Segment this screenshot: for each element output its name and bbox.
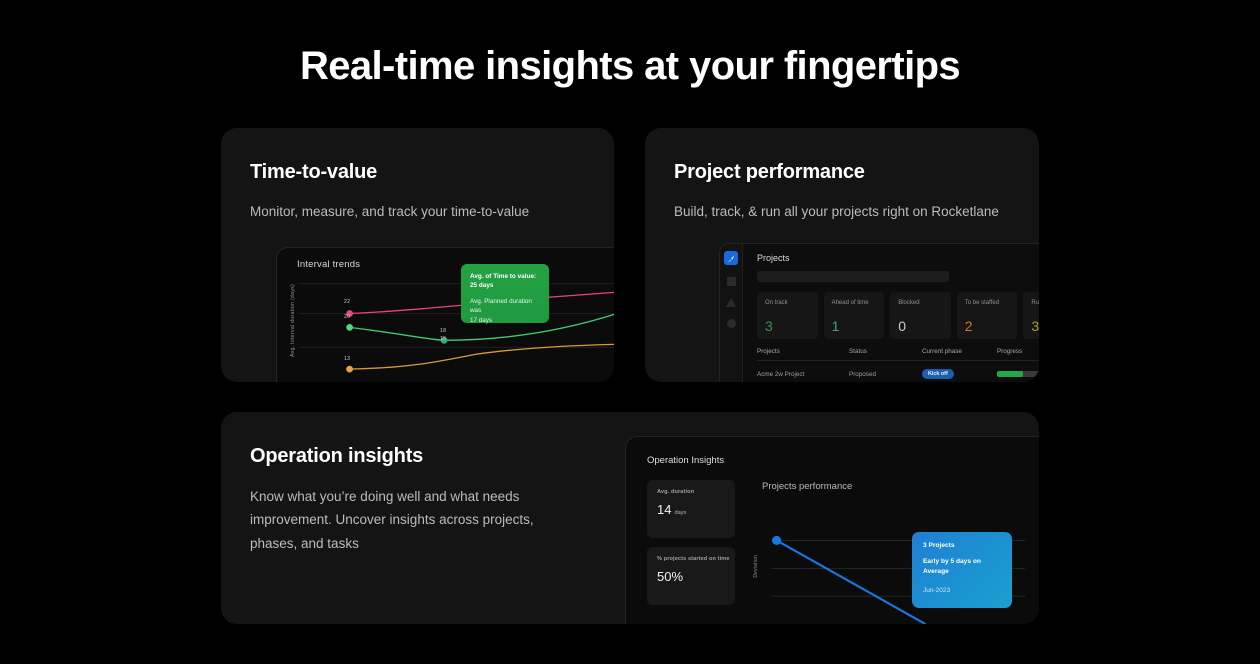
cell-status: Proposed: [849, 371, 922, 378]
point-label: 13: [344, 356, 350, 362]
annotation-line-2: Early by 5 days on Average: [923, 557, 1002, 577]
rocketlane-logo-icon[interactable]: [724, 251, 738, 265]
app-title: Projects: [757, 253, 1039, 263]
projects-table: Projects Status Current phase Progress A…: [757, 348, 1039, 379]
annotation-line-1: 3 Projects: [923, 542, 1002, 549]
kpi-card-to-be-staffed[interactable]: To be staffed 2: [957, 292, 1018, 339]
card-title: Project performance: [674, 161, 865, 184]
point-label: 20: [344, 314, 350, 320]
card-description: Monitor, measure, and track your time-to…: [250, 200, 529, 223]
landing-page: Real-time insights at your fingertips Ti…: [0, 0, 1260, 664]
kpi-value: 3: [765, 318, 818, 334]
kpi-label: On track: [765, 299, 818, 308]
table-header: Projects Status Current phase Progress: [757, 348, 1039, 361]
column-header-progress[interactable]: Progress: [997, 348, 1039, 355]
kpi-label: Running late: [1031, 299, 1039, 308]
app-body: Projects On track 3 Ahead of time 1 Bloc…: [743, 244, 1039, 382]
tooltip-line-1: Avg. of Time to value:: [470, 272, 540, 281]
chart-annotation-tooltip: 3 Projects Early by 5 days on Average Ju…: [912, 532, 1012, 608]
card-description: Know what you’re doing well and what nee…: [250, 485, 560, 555]
card-title: Operation insights: [250, 445, 423, 468]
page-title: Real-time insights at your fingertips: [0, 44, 1260, 89]
cell-project-name: Acme 2w Project: [757, 371, 849, 378]
point-label: 22: [344, 299, 350, 305]
kpi-card-running-late[interactable]: Running late 3: [1023, 292, 1039, 339]
triangle-icon[interactable]: [726, 298, 736, 307]
circle-icon[interactable]: [727, 319, 736, 328]
column-header-current-phase[interactable]: Current phase: [922, 348, 997, 355]
app-sidebar-rail: [720, 244, 743, 382]
tooltip-line-2: 25 days: [470, 281, 540, 290]
point-label: 15: [440, 336, 446, 342]
tooltip-line-3: Avg. Planned duration was: [470, 297, 540, 315]
point-label: 18: [440, 328, 446, 334]
interval-trends-chart: [277, 248, 614, 382]
tooltip-line-4: 17 days: [470, 316, 540, 325]
kpi-card-on-track[interactable]: On track 3: [757, 292, 818, 339]
search-input[interactable]: [757, 271, 949, 282]
kpi-card-blocked[interactable]: Blocked 0: [890, 292, 951, 339]
kpi-value: 2: [965, 318, 1018, 334]
kpi-value: 1: [832, 318, 885, 334]
card-project-performance: Project performance Build, track, & run …: [645, 128, 1039, 382]
project-performance-mock: Projects On track 3 Ahead of time 1 Bloc…: [719, 243, 1039, 382]
column-header-status[interactable]: Status: [849, 348, 922, 355]
cell-progress: [997, 371, 1039, 377]
table-row[interactable]: Acme 2w Project Proposed Kick off: [757, 361, 1039, 379]
card-operation-insights: Operation insights Know what you’re doin…: [221, 412, 1039, 624]
kpi-value: 3: [1031, 318, 1039, 334]
kpi-card-ahead-of-time[interactable]: Ahead of time 1: [824, 292, 885, 339]
cell-current-phase: Kick off: [922, 369, 997, 379]
column-header-projects[interactable]: Projects: [757, 348, 849, 355]
card-title: Time-to-value: [250, 161, 377, 184]
kpi-row: On track 3 Ahead of time 1 Blocked 0 To …: [757, 292, 1039, 339]
kpi-label: Blocked: [898, 299, 951, 308]
progress-bar: [997, 371, 1039, 377]
card-description: Build, track, & run all your projects ri…: [674, 200, 999, 223]
card-time-to-value: Time-to-value Monitor, measure, and trac…: [221, 128, 614, 382]
square-icon[interactable]: [727, 277, 736, 286]
kpi-value: 0: [898, 318, 951, 334]
time-to-value-mock: Interval trends Avg. Interval duration (…: [276, 247, 614, 382]
operation-insights-mock: Operation Insights Avg. duration 14days …: [625, 436, 1039, 624]
chart-tooltip: Avg. of Time to value: 25 days Avg. Plan…: [461, 264, 549, 323]
kpi-label: To be staffed: [965, 299, 1018, 308]
kpi-label: Ahead of time: [832, 299, 885, 308]
phase-chip: Kick off: [922, 369, 954, 379]
annotation-line-3: Jun-2023: [923, 587, 1002, 594]
